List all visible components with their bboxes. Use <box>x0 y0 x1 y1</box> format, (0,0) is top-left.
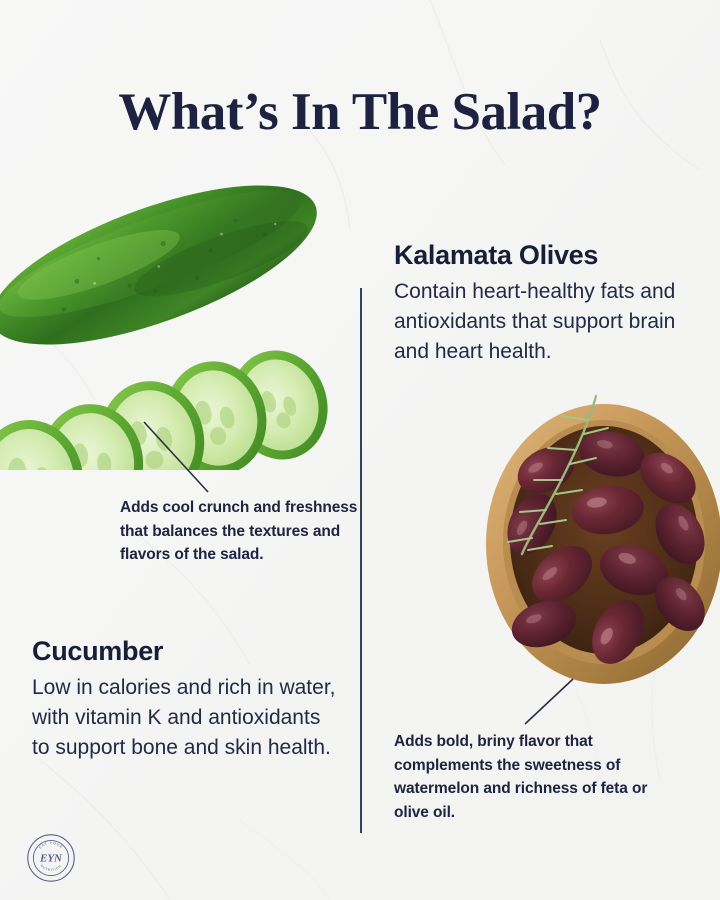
logo-monogram: EYN <box>39 853 63 865</box>
cucumber-body: Low in calories and rich in water, with … <box>32 673 342 762</box>
svg-text:NUTRITION: NUTRITION <box>40 864 63 873</box>
logo-top-text: EAT YOUR <box>38 841 64 850</box>
olives-section: Kalamata Olives Contain heart-healthy fa… <box>394 240 700 366</box>
olives-note: Adds bold, briny flavor that complements… <box>394 730 684 825</box>
logo-bottom-text: NUTRITION <box>40 864 63 873</box>
vertical-divider <box>360 288 362 833</box>
cucumber-heading: Cucumber <box>32 636 342 667</box>
infographic-canvas: What’s In The Salad? <box>0 0 720 900</box>
svg-text:EAT YOUR: EAT YOUR <box>38 841 64 850</box>
kalamata-olives-bowl-photo <box>484 392 720 692</box>
cucumber-leader-line <box>138 414 218 500</box>
eyn-nutrition-logo: EAT YOUR NUTRITION EYN <box>26 833 76 883</box>
page-title: What’s In The Salad? <box>0 82 720 142</box>
cucumber-section: Cucumber Low in calories and rich in wat… <box>32 636 342 762</box>
olives-body: Contain heart-healthy fats and antioxida… <box>394 277 700 366</box>
olives-heading: Kalamata Olives <box>394 240 700 271</box>
cucumber-note: Adds cool crunch and freshness that bala… <box>120 496 360 567</box>
olives-leader-line <box>518 674 580 730</box>
